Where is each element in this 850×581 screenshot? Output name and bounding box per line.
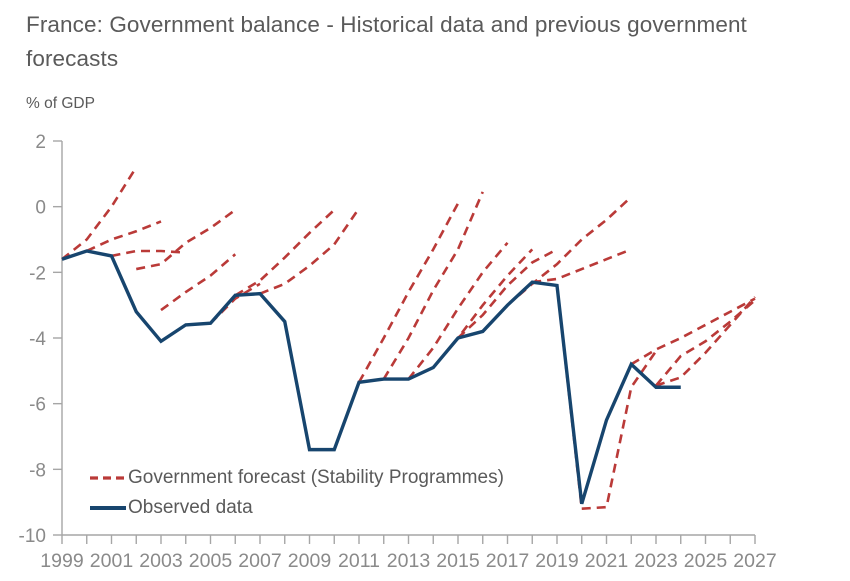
observed-series-group	[62, 251, 681, 504]
legend-label-observed: Observed data	[128, 497, 253, 518]
x-tick-label: 2001	[90, 550, 133, 572]
forecast-line	[62, 167, 136, 259]
x-tick-label: 2007	[238, 550, 281, 572]
x-tick-label: 2023	[634, 550, 677, 572]
x-axis-ticks: 1999200120032005200720092011201320152017…	[40, 535, 776, 572]
plot-area: 20-2-4-6-8-10 19992001200320052007200920…	[0, 0, 850, 581]
y-tick-label: -6	[29, 395, 46, 416]
forecast-line	[235, 210, 334, 295]
forecast-line	[260, 208, 359, 293]
x-tick-label: 1999	[40, 550, 83, 572]
forecast-line	[136, 210, 235, 269]
line-chart-svg: 20-2-4-6-8-10 19992001200320052007200920…	[0, 0, 850, 581]
x-tick-label: 2009	[288, 550, 331, 572]
chart-container: France: Government balance - Historical …	[0, 0, 850, 581]
y-tick-label: 2	[35, 132, 46, 153]
x-tick-label: 2017	[486, 550, 529, 572]
y-tick-label: 0	[35, 198, 46, 219]
x-tick-label: 2013	[387, 550, 430, 572]
y-tick-label: -10	[19, 526, 46, 547]
y-axis-ticks: 20-2-4-6-8-10	[19, 132, 62, 547]
x-tick-label: 2019	[535, 550, 578, 572]
chart-legend: Government forecast (Stability Programme…	[90, 467, 504, 518]
legend-label-forecast: Government forecast (Stability Programme…	[128, 467, 504, 488]
forecast-line	[112, 251, 186, 256]
x-tick-label: 2027	[733, 550, 776, 572]
forecast-line	[384, 192, 483, 379]
y-tick-label: -8	[29, 460, 46, 481]
observed-line	[62, 251, 681, 504]
x-tick-label: 2015	[436, 550, 480, 572]
x-tick-label: 2011	[338, 550, 380, 572]
x-tick-label: 2025	[684, 550, 728, 572]
y-tick-label: -2	[29, 263, 46, 284]
y-tick-label: -4	[29, 329, 46, 350]
forecast-line	[631, 299, 755, 365]
forecast-line	[458, 249, 557, 338]
x-tick-label: 2005	[189, 550, 233, 572]
x-tick-label: 2021	[585, 550, 628, 572]
forecast-line	[161, 254, 235, 310]
x-tick-label: 2003	[139, 550, 182, 572]
